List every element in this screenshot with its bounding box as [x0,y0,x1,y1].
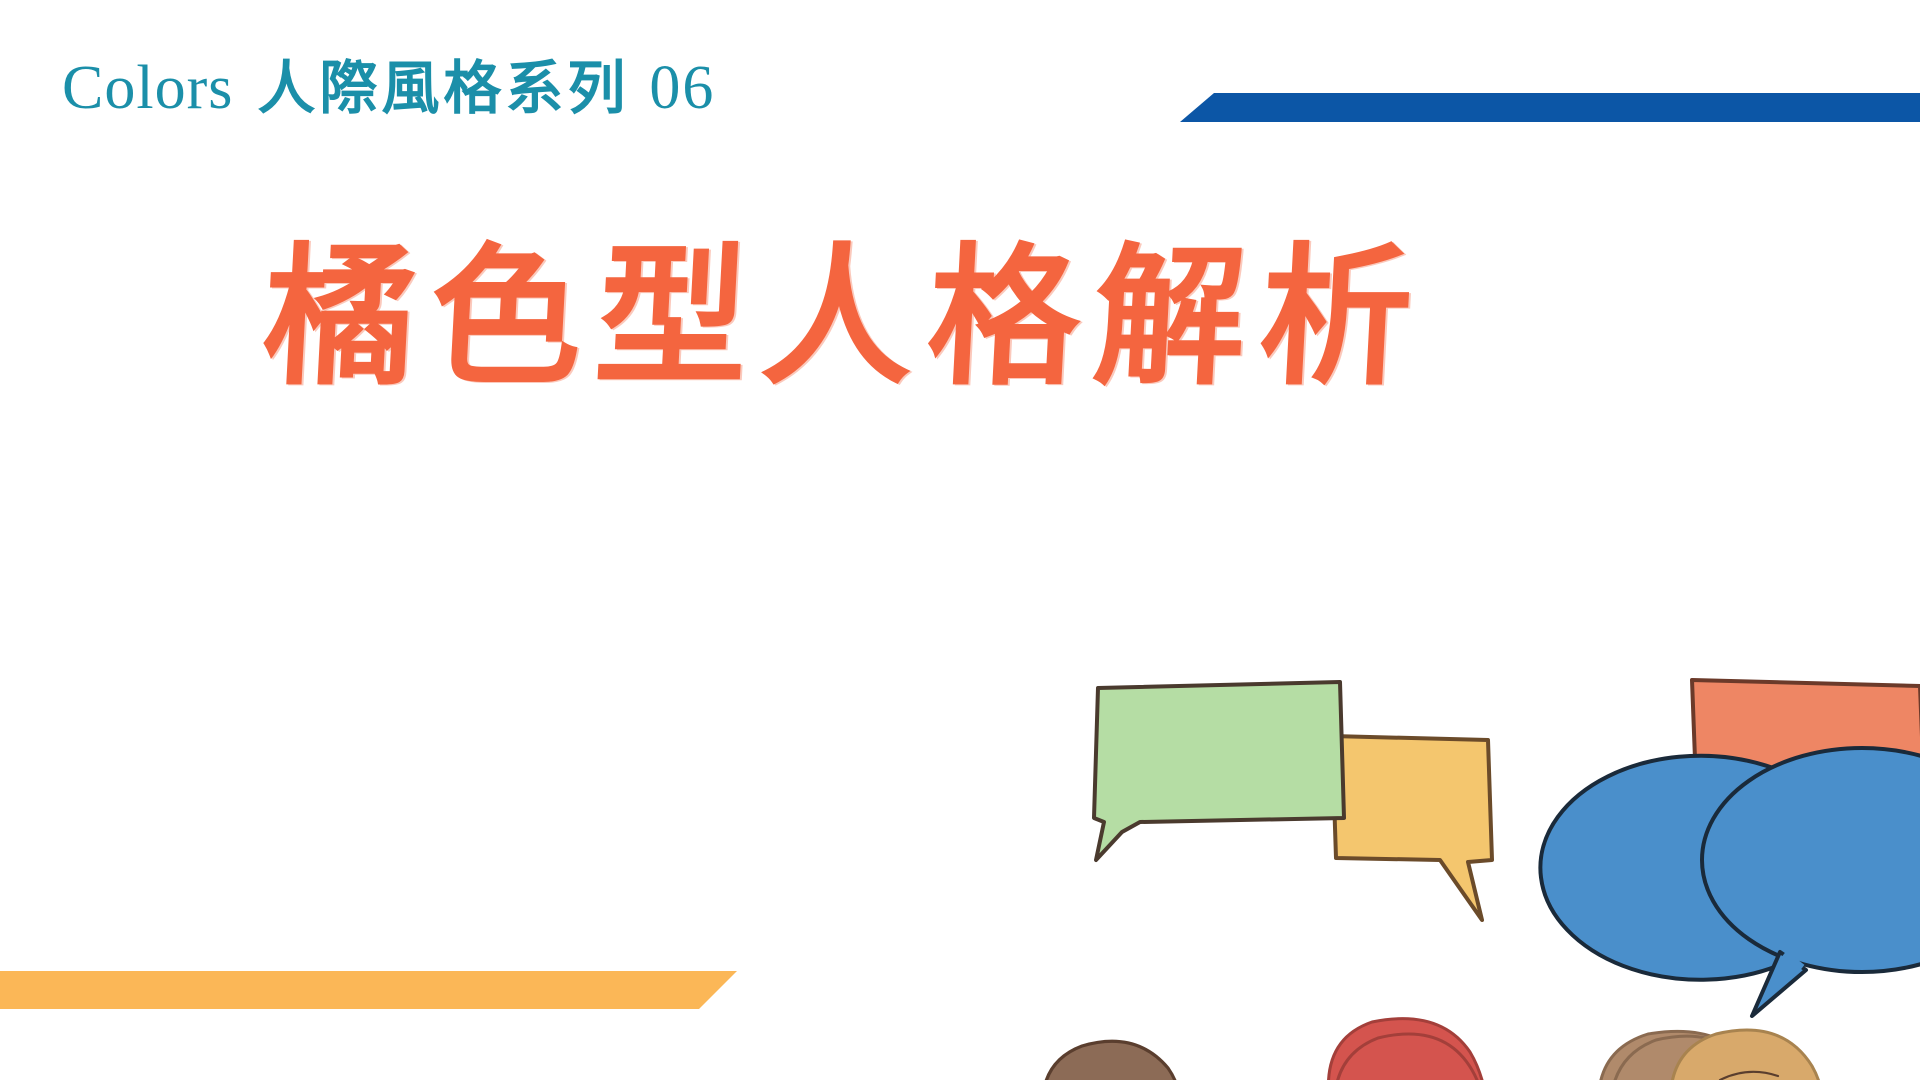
series-title-number: 06 [649,54,715,122]
slide-canvas: Colors人際風格系列06 橘色型人格解析 .ln { fill:none; … [0,0,1920,1080]
series-title-cjk: 人際風格系列 [257,54,629,122]
bubble-yellow-icon [1332,736,1492,920]
bubble-blue-icon [1540,748,1920,1016]
page-title-text: 橘色型人格解析 [260,238,1430,398]
series-title: Colors人際風格系列06 [62,52,715,125]
series-title-latin: Colors [62,54,233,122]
person-1-figure [963,1041,1222,1080]
footer-accent-bar [0,971,737,1009]
header-accent-bar [1180,93,1920,122]
illustration-four-people-conversation: .ln { fill:none; stroke:#5A3E2E; stroke-… [900,560,1920,1080]
page-title: 橘色型人格解析 [0,238,1920,398]
bubble-green-icon [1094,682,1344,860]
